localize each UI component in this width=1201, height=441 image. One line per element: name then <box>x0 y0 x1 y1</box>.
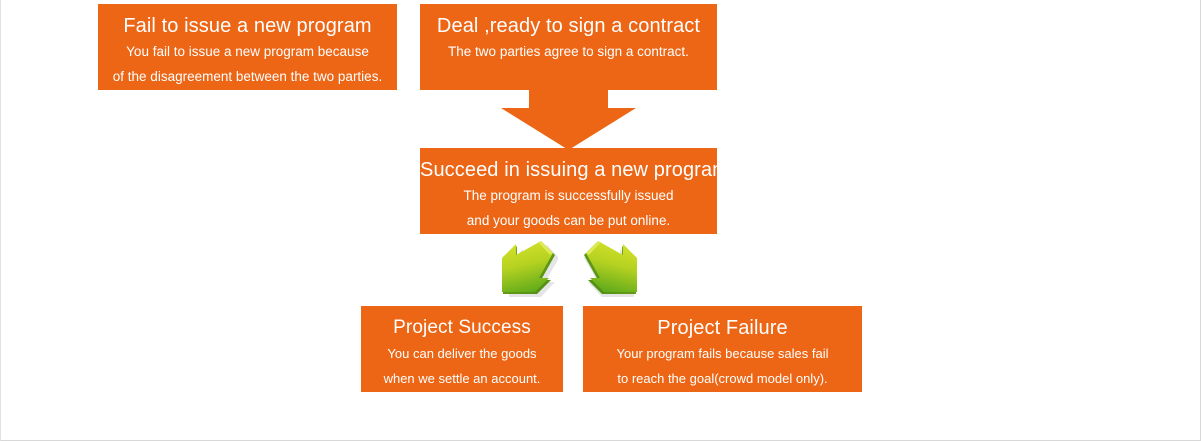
node-deal-ready[interactable]: Deal ,ready to sign a contract The two p… <box>420 4 717 90</box>
node-project-failure-title: Project Failure <box>583 315 862 341</box>
node-fail-to-issue-line-2: of the disagreement between the two part… <box>98 64 397 89</box>
node-succeed-issuing-title: Succeed in issuing a new program <box>420 157 717 183</box>
node-project-failure-line-2: to reach the goal(crowd model only). <box>583 366 862 391</box>
node-fail-to-issue-line-1: You fail to issue a new program because <box>98 39 397 64</box>
node-deal-ready-line-1: The two parties agree to sign a contract… <box>420 39 717 64</box>
node-fail-to-issue[interactable]: Fail to issue a new program You fail to … <box>98 4 397 90</box>
arrow-down-right-icon <box>581 240 641 302</box>
node-project-failure[interactable]: Project Failure Your program fails becau… <box>583 306 862 392</box>
node-deal-ready-title: Deal ,ready to sign a contract <box>420 13 717 39</box>
node-fail-to-issue-title: Fail to issue a new program <box>98 13 397 39</box>
flowchart-canvas: Fail to issue a new program You fail to … <box>0 0 1201 441</box>
node-succeed-issuing-line-1: The program is successfully issued <box>420 183 717 208</box>
node-project-success[interactable]: Project Success You can deliver the good… <box>361 306 563 392</box>
node-succeed-issuing[interactable]: Succeed in issuing a new program The pro… <box>420 148 717 234</box>
arrow-down-left-icon <box>498 240 558 302</box>
node-project-success-line-1: You can deliver the goods <box>361 341 563 366</box>
node-succeed-issuing-line-2: and your goods can be put online. <box>420 208 717 233</box>
arrow-down-icon <box>501 88 636 150</box>
node-project-success-line-2: when we settle an account. <box>361 366 563 391</box>
node-project-success-title: Project Success <box>361 315 563 341</box>
node-project-failure-line-1: Your program fails because sales fail <box>583 341 862 366</box>
